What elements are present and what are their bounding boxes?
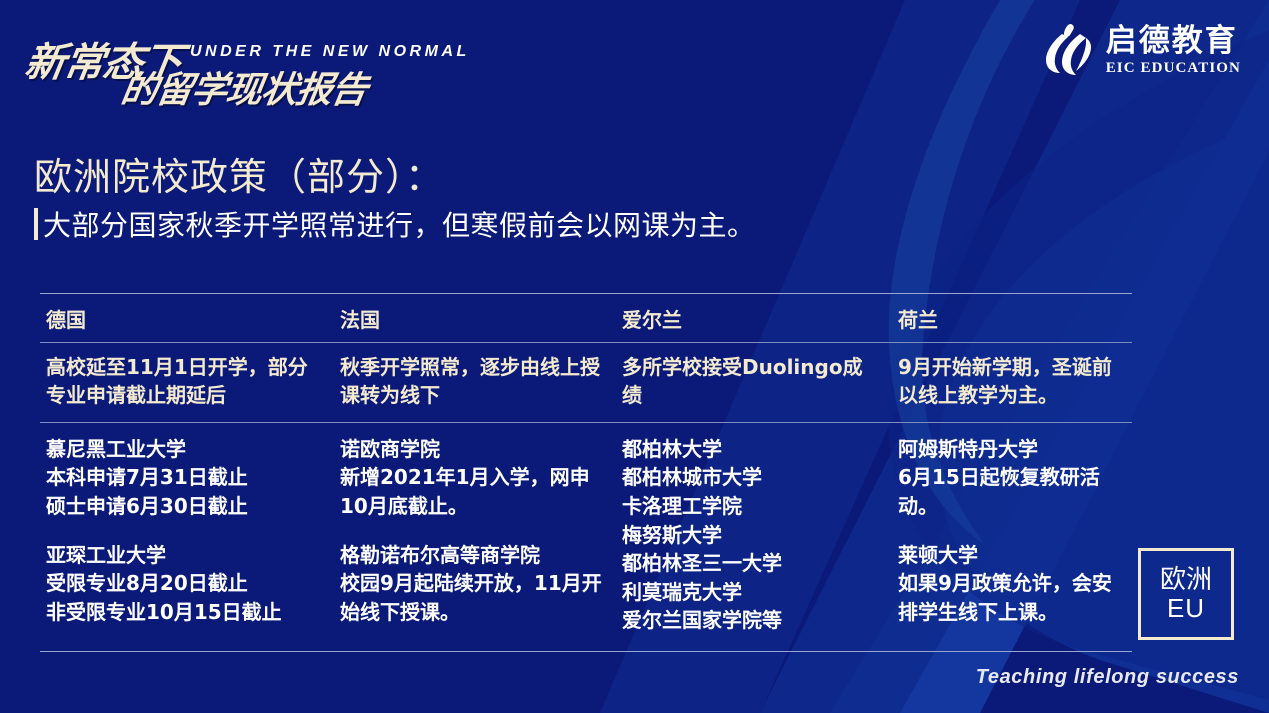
- eic-logo-mark: [1040, 22, 1094, 80]
- table-header-ireland: 爱尔兰: [616, 294, 892, 342]
- table-row: 慕尼黑工业大学本科申请7月31日截止硕士申请6月30日截止亚琛工业大学受限专业8…: [40, 423, 1132, 651]
- report-title-lockup: 新常态下 UNDER THE NEW NORMAL 的留学现状报告: [22, 16, 482, 94]
- table-rule-bottom: [40, 651, 1132, 652]
- footer-tagline: Teaching lifelong success: [976, 666, 1239, 689]
- region-badge: 欧洲 EU: [1138, 548, 1234, 640]
- page-title: 欧洲院校政策（部分）：: [34, 146, 444, 201]
- brand-text: 启德教育 EIC EDUCATION: [1106, 25, 1241, 78]
- table-cell-france-summary: 秋季开学照常，逐步由线上授课转为线下: [334, 343, 616, 422]
- page-header: 新常态下 UNDER THE NEW NORMAL 的留学现状报告 启德教育 E…: [0, 0, 1269, 110]
- table-header-row: 德国 法国 爱尔兰 荷兰: [40, 294, 1132, 342]
- report-title-en: UNDER THE NEW NORMAL: [190, 43, 470, 61]
- brand-name-cn: 启德教育: [1106, 25, 1241, 58]
- cell-block: 诺欧商学院新增2021年1月入学，网申10月底截止。: [340, 435, 604, 521]
- subtitle-text: 大部分国家秋季开学照常进行，但寒假前会以网课为主。: [43, 204, 756, 244]
- cell-block: 阿姆斯特丹大学6月15日起恢复教研活动。: [898, 435, 1120, 521]
- cell-block: 慕尼黑工业大学本科申请7月31日截止硕士申请6月30日截止: [46, 435, 322, 521]
- cell-block: 莱顿大学如果9月政策允许，会安排学生线下上课。: [898, 541, 1120, 627]
- table-header-france: 法国: [334, 294, 616, 342]
- region-badge-cn: 欧洲: [1160, 566, 1212, 594]
- table-cell-germany-summary: 高校延至11月1日开学，部分专业申请截止期延后: [40, 343, 334, 422]
- table-row: 高校延至11月1日开学，部分专业申请截止期延后 秋季开学照常，逐步由线上授课转为…: [40, 343, 1132, 422]
- table-cell-netherlands-summary: 9月开始新学期，圣诞前以线上教学为主。: [892, 343, 1132, 422]
- region-badge-en: EU: [1167, 594, 1205, 622]
- cell-block-gap: [898, 521, 1120, 541]
- subtitle-accent-bar: [34, 208, 38, 240]
- table-header-germany: 德国: [40, 294, 334, 342]
- report-title-cn-secondary: 的留学现状报告: [118, 61, 371, 113]
- brand-logo: 启德教育 EIC EDUCATION: [1040, 22, 1241, 80]
- table-cell-netherlands-detail: 阿姆斯特丹大学6月15日起恢复教研活动。莱顿大学如果9月政策允许，会安排学生线下…: [892, 423, 1132, 651]
- cell-block: 格勒诺布尔高等商学院校园9月起陆续开放，11月开始线下授课。: [340, 541, 604, 627]
- table-cell-ireland-summary: 多所学校接受Duolingo成绩: [616, 343, 892, 422]
- page-subtitle: 大部分国家秋季开学照常进行，但寒假前会以网课为主。: [34, 204, 756, 244]
- table-cell-ireland-detail: 都柏林大学都柏林城市大学卡洛理工学院梅努斯大学都柏林圣三一大学利莫瑞克大学爱尔兰…: [616, 423, 892, 651]
- table-cell-germany-detail: 慕尼黑工业大学本科申请7月31日截止硕士申请6月30日截止亚琛工业大学受限专业8…: [40, 423, 334, 651]
- cell-block-gap: [46, 521, 322, 541]
- table-header-netherlands: 荷兰: [892, 294, 1132, 342]
- cell-block: 都柏林大学都柏林城市大学卡洛理工学院梅努斯大学都柏林圣三一大学利莫瑞克大学爱尔兰…: [622, 435, 880, 635]
- table-cell-france-detail: 诺欧商学院新增2021年1月入学，网申10月底截止。格勒诺布尔高等商学院校园9月…: [334, 423, 616, 651]
- policy-table: 德国 法国 爱尔兰 荷兰 高校延至11月1日开学，部分专业申请截止期延后 秋季开…: [40, 293, 1132, 652]
- cell-block: 亚琛工业大学受限专业8月20日截止非受限专业10月15日截止: [46, 541, 322, 627]
- cell-block-gap: [340, 521, 604, 541]
- brand-name-en: EIC EDUCATION: [1106, 59, 1241, 78]
